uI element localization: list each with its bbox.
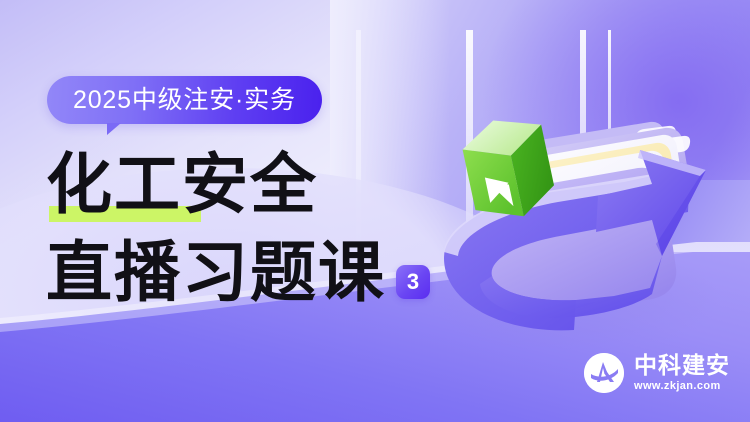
- headline-text-secondary: 直播习题课: [46, 236, 386, 312]
- logo-text-block: 中科建安 www.zkjan.com: [634, 354, 730, 392]
- course-category-badge: 2025中级注安·实务: [47, 76, 322, 124]
- logo-company-name: 中科建安: [634, 354, 730, 377]
- headline-text-primary: 化工安全: [46, 148, 318, 224]
- headline-block: 化工安全 直播习题课 3: [46, 148, 466, 314]
- episode-number-badge: 3: [396, 265, 430, 299]
- course-banner: 2025中级注安·实务 化工安全 直播习题课 3 中科建安 www.zkjan.…: [0, 0, 750, 422]
- brand-logo: 中科建安 www.zkjan.com: [583, 352, 730, 394]
- badge-pill: 2025中级注安·实务: [47, 76, 322, 124]
- logo-website-url: www.zkjan.com: [634, 381, 730, 392]
- headline-line-2: 直播习题课 3: [46, 236, 466, 314]
- headline-line-1: 化工安全: [46, 148, 466, 226]
- logo-mark-icon: [583, 352, 625, 394]
- badge-pointer-tail: [107, 123, 121, 135]
- badge-label: 2025中级注安·实务: [73, 88, 296, 113]
